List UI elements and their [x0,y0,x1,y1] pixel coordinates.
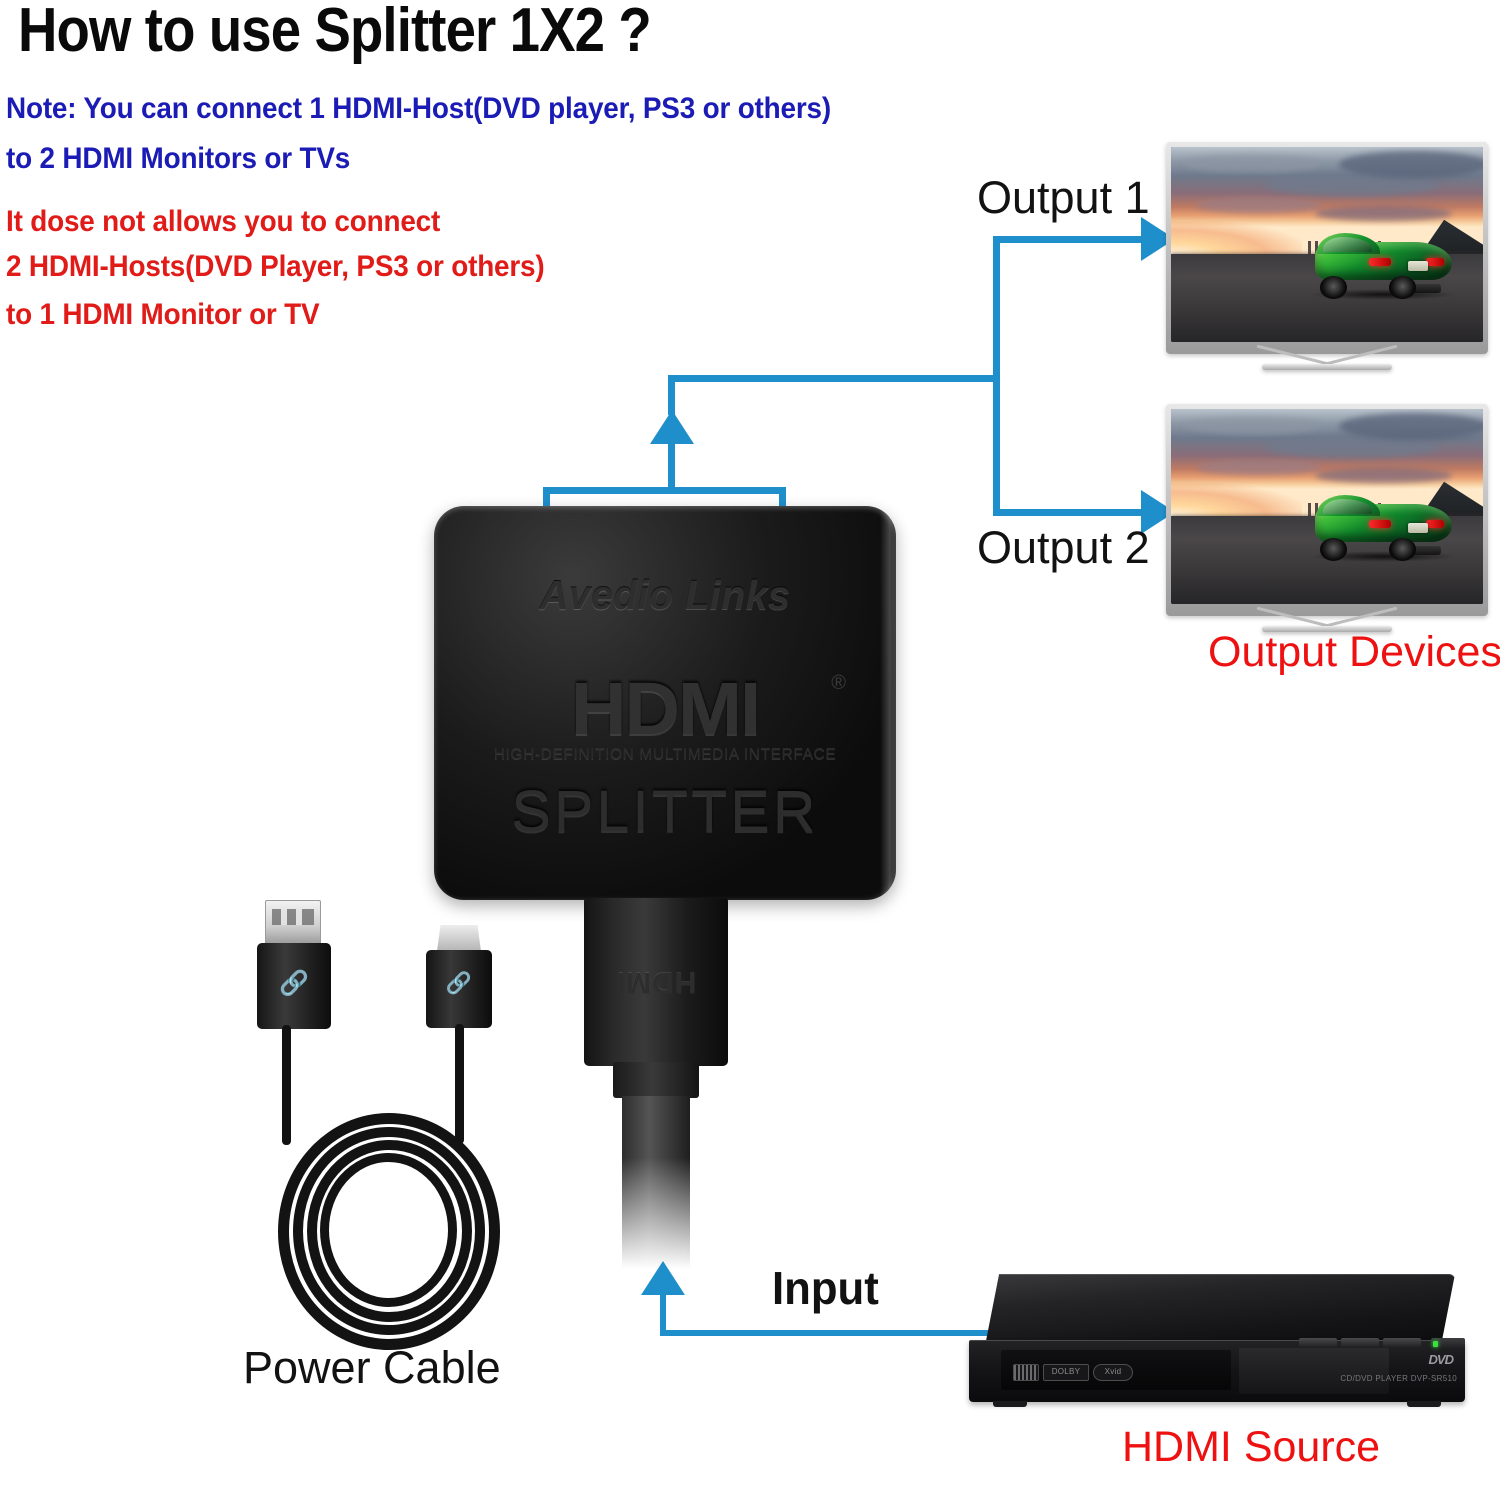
hdmi-logo-label: HDMI [434,666,896,751]
warning-line-2: 2 HDMI-Hosts(DVD Player, PS3 or others) [6,250,544,284]
output-tv-1 [1166,142,1488,354]
dvd-foot [993,1401,1027,1407]
power-cable-loop [320,1153,457,1307]
usb-a-hood: 🔗 [257,943,331,1029]
output-trunk-vertical [993,236,1000,516]
car-taillight [1369,258,1391,266]
dvd-barcode-badge [1013,1364,1039,1381]
dvd-display-panel: DOLBY Xvid [1001,1350,1231,1390]
note-line-1: Note: You can connect 1 HDMI-Host(DVD pl… [6,92,831,126]
car-taillight [1426,520,1444,528]
power-cable-wire-left [282,1025,291,1145]
tv-stand-foot [1262,626,1392,632]
screen-cloud [1315,468,1452,484]
splitter-output-bus [543,487,786,494]
dvd-button[interactable] [1383,1338,1421,1347]
screen-car [1315,233,1452,295]
output-1-label: Output 1 [977,172,1150,224]
output-2-label: Output 2 [977,522,1150,574]
dvd-model-label: CD/DVD PLAYER DVP-SR510 [1340,1374,1457,1383]
screen-car [1315,495,1452,557]
hdmi-plug-label: HDMI [616,965,697,999]
dvd-disc-tray [1239,1348,1389,1394]
input-label: Input [772,1261,879,1315]
car-taillight [1369,520,1391,528]
tv-bezel [1166,404,1488,616]
usb-trident-icon: 🔗 [446,972,472,996]
dvd-button[interactable] [1341,1338,1379,1347]
tv-screen [1171,147,1483,342]
output-trunk-horizontal [668,375,1000,382]
splitter-brand-label: Avedio Links [443,572,887,619]
xvid-badge: Xvid [1093,1364,1133,1381]
tv-stand-foot [1262,364,1392,370]
dolby-digital-badge: DOLBY [1043,1364,1089,1381]
micro-usb-connector-icon [437,925,481,951]
output-devices-label: Output Devices [1208,628,1500,677]
output1-branch-line [993,236,1143,243]
hdmi-source-label: HDMI Source [1122,1423,1380,1472]
warning-line-3: to 1 HDMI Monitor or TV [6,298,319,332]
dvd-player-top-panel [985,1274,1455,1346]
car-license-plate [1408,523,1429,533]
splitter-type-label: SPLITTER [434,778,896,845]
usb-a-connector-icon [265,900,321,944]
hdmi-connector-plug: HDMI [584,898,728,1066]
page-title: How to use Splitter 1X2 ? [18,0,942,63]
splitter-up-arrow-icon [650,410,694,444]
hdmi-cable-collar [613,1062,699,1098]
micro-usb-hood: 🔗 [426,950,492,1028]
car-license-plate [1408,261,1429,271]
warning-line-1: It dose not allows you to connect [6,205,440,239]
registered-trademark-icon: ® [831,672,846,695]
tv-bezel [1166,142,1488,354]
screen-cloud [1315,206,1452,222]
car-wheel [1389,538,1416,560]
hdmi-cable [622,1096,690,1276]
output2-branch-line [993,509,1143,516]
dvd-foot [1407,1401,1441,1407]
screen-cloud [1196,198,1321,214]
screen-cloud [1339,413,1483,440]
tv-screen [1171,409,1483,604]
power-cable-label: Power Cable [243,1342,501,1394]
note-line-2: to 2 HDMI Monitors or TVs [6,142,350,176]
dvd-power-led-icon [1433,1341,1438,1347]
screen-cloud [1339,151,1483,178]
dvd-player-front-panel: DOLBY Xvid DVD CD/DVD PLAYER DVP-SR510 [969,1340,1465,1402]
usb-trident-icon: 🔗 [279,969,309,998]
dvd-button[interactable] [1299,1338,1337,1347]
car-taillight [1426,258,1444,266]
input-line-horizontal [660,1330,1005,1336]
usb-a-contacts [272,909,314,925]
output-tv-2 [1166,404,1488,616]
screen-cloud [1196,460,1321,476]
car-wheel [1389,276,1416,298]
dvd-logo: DVD [1429,1352,1453,1367]
hdmi-subtitle-label: HIGH-DEFINITION MULTIMEDIA INTERFACE [434,746,896,764]
hdmi-splitter-device: Avedio Links HDMI ® HIGH-DEFINITION MULT… [434,506,896,900]
dvd-player-device: DOLBY Xvid DVD CD/DVD PLAYER DVP-SR510 [963,1274,1471,1424]
power-cable-wire-right [455,1024,464,1144]
